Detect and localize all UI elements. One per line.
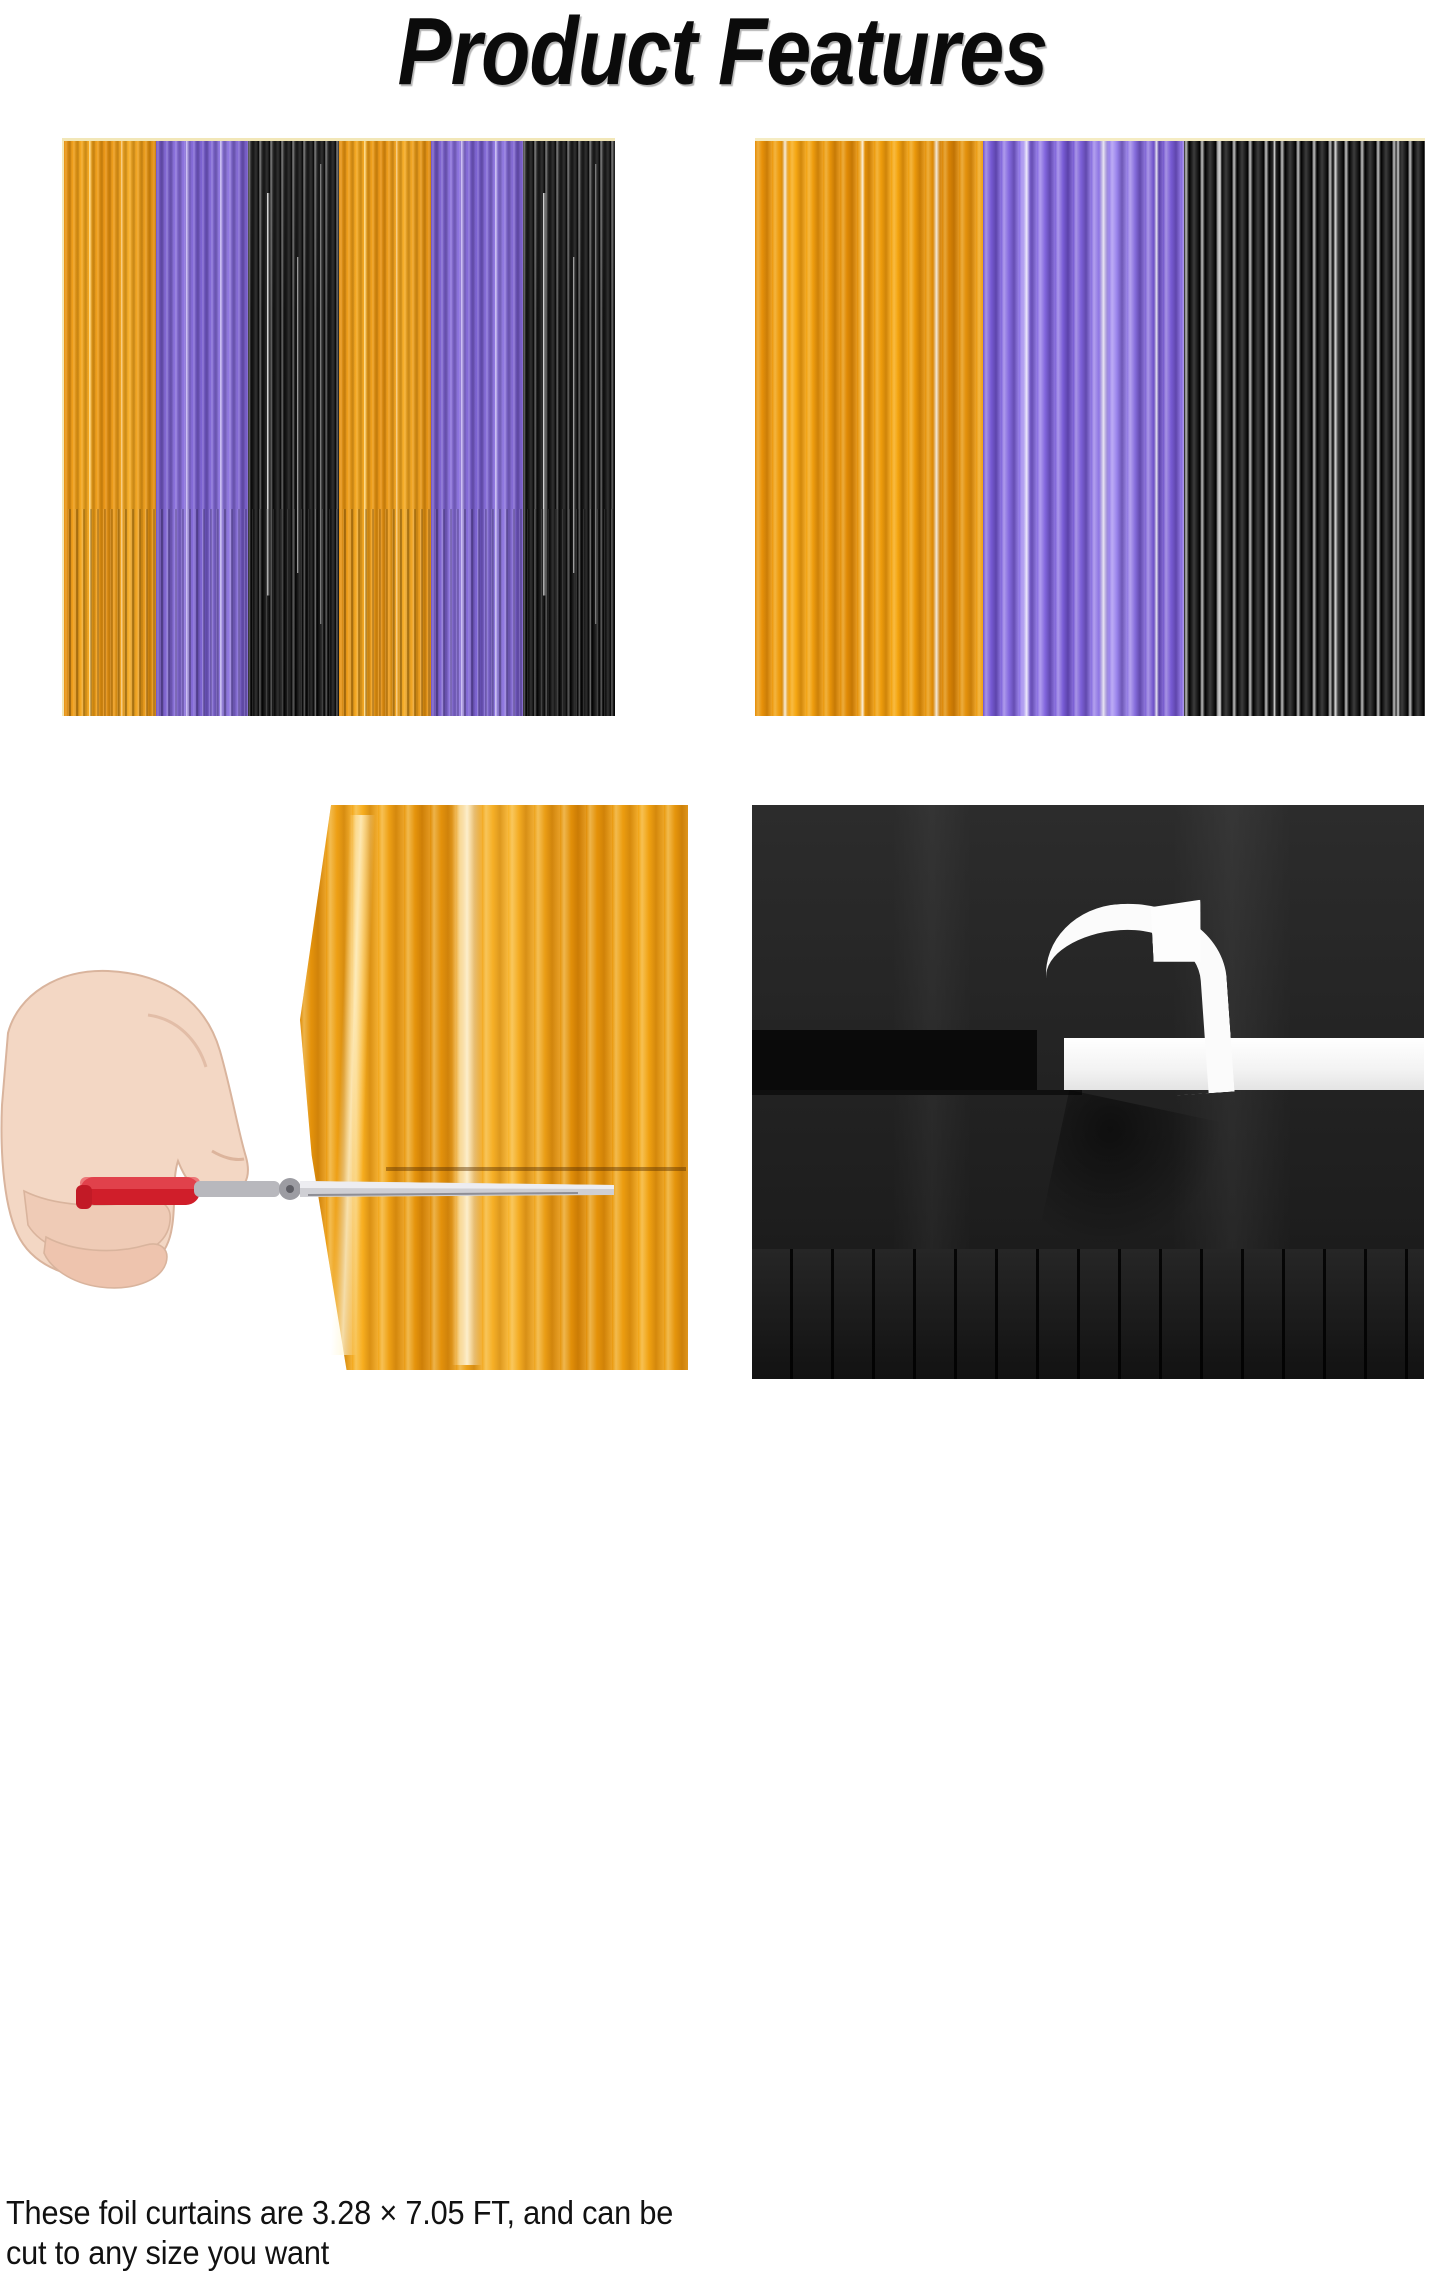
strand-sheen (248, 141, 340, 716)
fringe-curtain-icon (62, 138, 615, 716)
fringe-bottom-fade (523, 509, 615, 716)
band-group (755, 141, 1425, 716)
highlight-strand (1099, 141, 1108, 716)
highlight-strand (1333, 141, 1338, 716)
curtain-seam (752, 1090, 1082, 1095)
band-purple (983, 141, 1184, 716)
curtain-fringe-cuts (752, 1249, 1424, 1379)
fringe-panel-orange-2 (339, 141, 431, 716)
highlight-strand (1273, 141, 1276, 716)
tape-shadow (1038, 1090, 1226, 1270)
fringe-bottom-fade (339, 509, 431, 716)
fringe-bottom-fade (156, 509, 248, 716)
foil-highlight (452, 805, 482, 1365)
strand-sheen (523, 141, 615, 716)
tape-peel-tip (1150, 900, 1203, 965)
strand-sheen (431, 141, 523, 716)
tape-strip-icon (752, 805, 1424, 1379)
fringe-panel-purple-2 (431, 141, 523, 716)
fringe-panel-black-2 (523, 141, 615, 716)
highlight-strand (1218, 141, 1222, 716)
metallic-closeup-icon (755, 138, 1425, 716)
scissors-icon (18, 1165, 618, 1217)
cut-to-size-icon (0, 805, 688, 1370)
feature-card-1: These fringe curtains are perfect for Ha… (0, 138, 728, 803)
fringe-bottom-fade (431, 509, 523, 716)
feature-card-4: Easy installation with double-sided tape… (730, 805, 1445, 1464)
highlight-strand (1154, 141, 1159, 716)
page-title: Product Features (116, 2, 1330, 102)
highlight-strand (782, 141, 788, 716)
strand-sheen (339, 141, 431, 716)
curtain-dark-strip (752, 1030, 1037, 1092)
feature-card-2: Metallic color finish, suitable for part… (730, 138, 1445, 803)
band-orange (755, 141, 983, 716)
fringe-bottom-fade (64, 509, 156, 716)
highlight-strand (860, 141, 865, 716)
strand-sheen (156, 141, 248, 716)
strand-sheen (64, 141, 156, 716)
fringe-bottom-fade (248, 509, 340, 716)
fringe-panel-group (64, 141, 615, 716)
highlight-strand (1023, 141, 1030, 716)
fringe-panel-black-1 (248, 141, 340, 716)
fringe-panel-orange-1 (64, 141, 156, 716)
highlight-strand (933, 141, 940, 716)
feature-caption-3: These foil curtains are 3.28 × 7.05 FT, … (6, 2193, 694, 2273)
fringe-panel-purple-1 (156, 141, 248, 716)
band-black (1184, 141, 1425, 716)
hand-icon (0, 955, 300, 1295)
feature-card-3: These foil curtains are 3.28 × 7.05 FT, … (0, 805, 728, 1464)
highlight-strand (1396, 141, 1400, 716)
